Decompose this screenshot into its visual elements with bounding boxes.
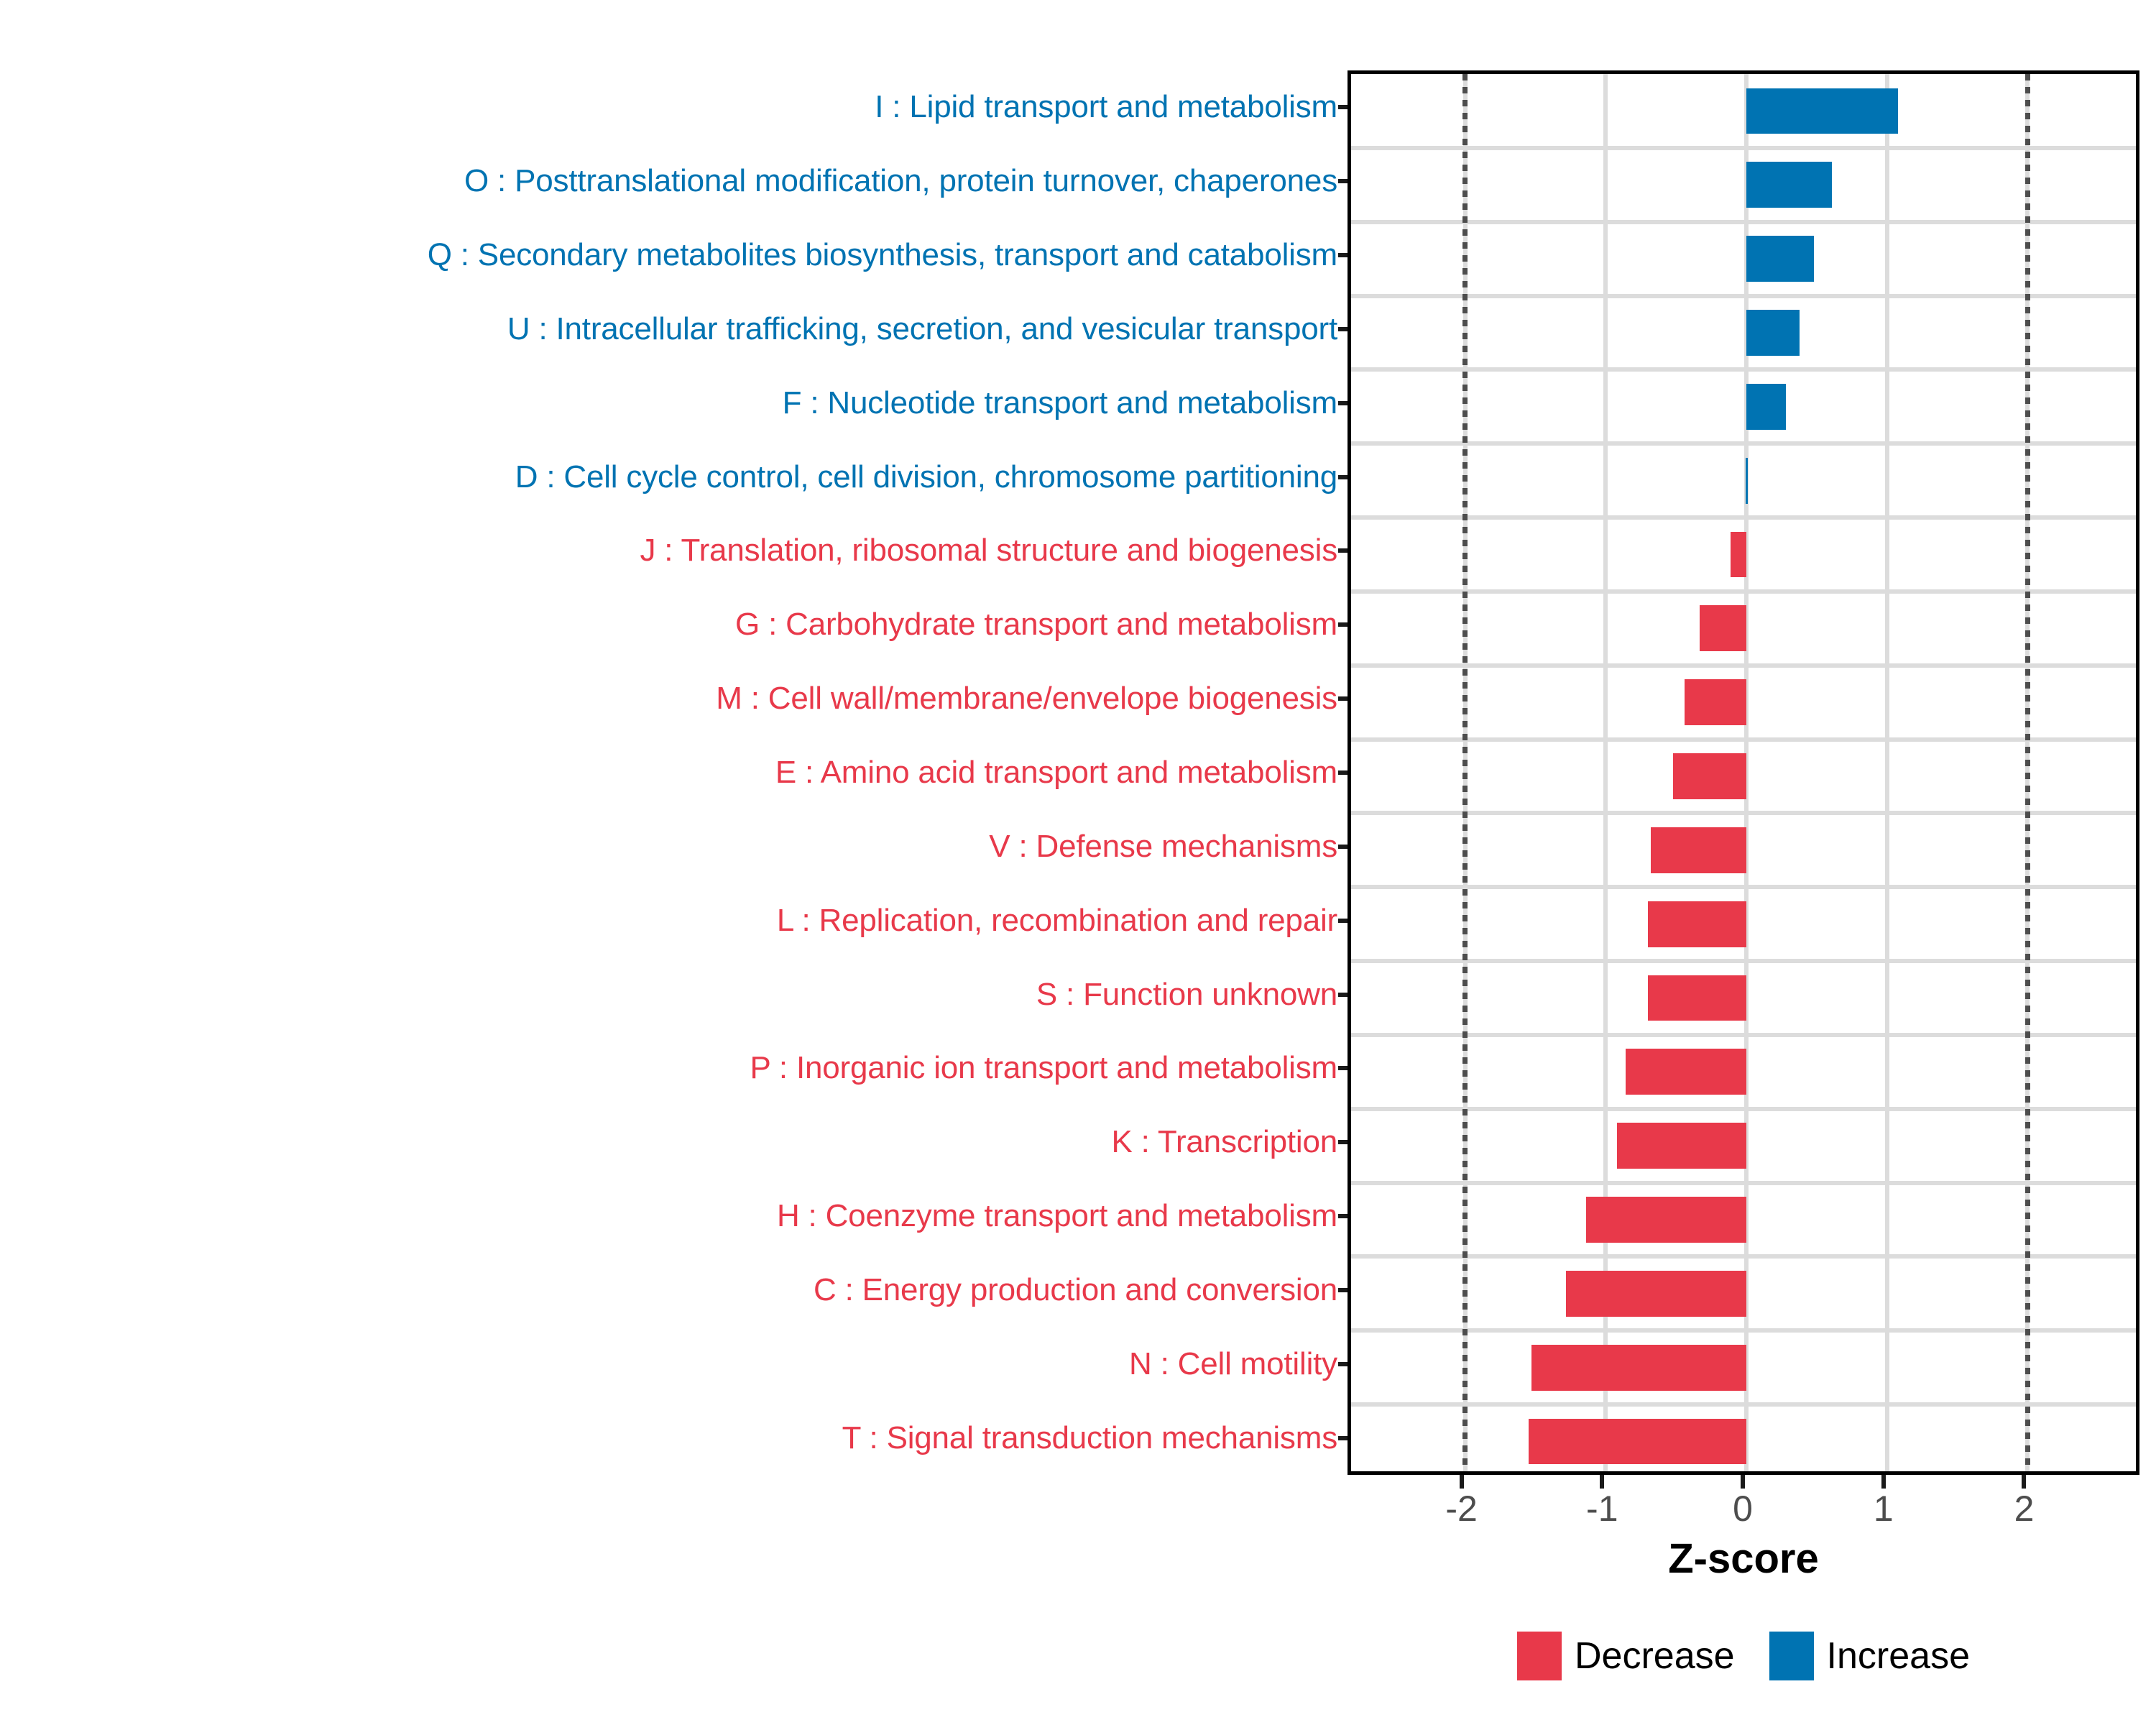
category-label: T : Signal transduction mechanisms — [842, 1422, 1337, 1454]
category-label: Q : Secondary metabolites biosynthesis, … — [428, 239, 1337, 271]
category-label: U : Intracellular trafficking, secretion… — [507, 313, 1337, 345]
y-axis-tick — [1338, 1436, 1347, 1440]
bar — [1531, 1345, 1746, 1391]
category-label-row: I : Lipid transport and metabolism — [0, 70, 1347, 144]
bar — [1685, 679, 1746, 725]
category-label-row: H : Coenzyme transport and metabolism — [0, 1179, 1347, 1253]
category-label-row: O : Posttranslational modification, prot… — [0, 144, 1347, 218]
bar — [1673, 753, 1746, 799]
horizontal-gridline — [1351, 959, 2136, 963]
category-label: V : Defense mechanisms — [989, 831, 1337, 862]
legend-color-swatch — [1769, 1632, 1814, 1680]
x-axis-tick-mark — [1600, 1475, 1604, 1489]
category-label: C : Energy production and conversion — [814, 1274, 1337, 1306]
y-axis-tick — [1338, 1288, 1347, 1292]
horizontal-gridline — [1351, 515, 2136, 520]
category-label: H : Coenzyme transport and metabolism — [777, 1200, 1337, 1232]
y-axis-tick — [1338, 919, 1347, 923]
category-label-row: T : Signal transduction mechanisms — [0, 1401, 1347, 1475]
legend: DecreaseIncrease — [1347, 1632, 2139, 1680]
reference-dashed-line — [1462, 74, 1468, 1471]
horizontal-gridline — [1351, 1181, 2136, 1185]
category-label: O : Posttranslational modification, prot… — [464, 165, 1337, 197]
horizontal-gridline — [1351, 146, 2136, 150]
y-axis-tick — [1338, 105, 1347, 109]
bar — [1746, 458, 1748, 504]
y-axis-tick — [1338, 622, 1347, 627]
legend-item[interactable]: Decrease — [1517, 1632, 1735, 1680]
category-label: F : Nucleotide transport and metabolism — [783, 387, 1337, 419]
horizontal-gridline — [1351, 737, 2136, 742]
category-label: M : Cell wall/membrane/envelope biogenes… — [716, 683, 1337, 714]
x-axis-tick-label: 0 — [1733, 1491, 1753, 1527]
category-label-row: C : Energy production and conversion — [0, 1253, 1347, 1328]
plot-area — [1351, 74, 2136, 1471]
category-label-row: N : Cell motility — [0, 1327, 1347, 1401]
horizontal-gridline — [1351, 1402, 2136, 1407]
category-label: L : Replication, recombination and repai… — [777, 905, 1337, 937]
bar — [1746, 162, 1832, 208]
horizontal-gridline — [1351, 220, 2136, 224]
bar — [1700, 605, 1746, 651]
category-label-row: F : Nucleotide transport and metabolism — [0, 366, 1347, 440]
x-axis-tick-label: -1 — [1586, 1491, 1618, 1527]
horizontal-gridline — [1351, 441, 2136, 446]
y-axis-tick — [1338, 475, 1347, 479]
horizontal-gridline — [1351, 1328, 2136, 1333]
category-label: S : Function unknown — [1036, 979, 1337, 1011]
category-label: G : Carbohydrate transport and metabolis… — [735, 609, 1337, 640]
bar — [1746, 88, 1898, 134]
y-axis-tick — [1338, 845, 1347, 849]
bar — [1626, 1049, 1746, 1095]
y-axis-tick — [1338, 993, 1347, 997]
legend-label: Increase — [1827, 1637, 1970, 1675]
y-axis-tick — [1338, 1214, 1347, 1218]
plot-panel — [1347, 70, 2139, 1475]
vertical-gridline — [1885, 74, 1889, 1471]
y-axis-tick — [1338, 179, 1347, 183]
y-axis-tick — [1338, 1362, 1347, 1366]
horizontal-gridline — [1351, 885, 2136, 889]
cog-zscore-barchart: I : Lipid transport and metabolismO : Po… — [0, 0, 2156, 1725]
bar — [1529, 1419, 1746, 1465]
y-axis-tick — [1338, 401, 1347, 405]
category-label-row: U : Intracellular trafficking, secretion… — [0, 293, 1347, 367]
category-label: D : Cell cycle control, cell division, c… — [515, 461, 1337, 493]
category-label-row: Q : Secondary metabolites biosynthesis, … — [0, 218, 1347, 293]
category-label: P : Inorganic ion transport and metaboli… — [750, 1052, 1337, 1084]
category-label-row: P : Inorganic ion transport and metaboli… — [0, 1031, 1347, 1105]
category-label-row: E : Amino acid transport and metabolism — [0, 736, 1347, 810]
category-label-row: D : Cell cycle control, cell division, c… — [0, 440, 1347, 514]
legend-item[interactable]: Increase — [1769, 1632, 1970, 1680]
y-axis-tick — [1338, 253, 1347, 257]
category-label: J : Translation, ribosomal structure and… — [640, 535, 1337, 566]
bar — [1648, 975, 1746, 1021]
x-axis-tick-label: -2 — [1445, 1491, 1477, 1527]
bar — [1746, 236, 1814, 282]
x-axis-tick-mark — [2022, 1475, 2026, 1489]
legend-color-swatch — [1517, 1632, 1562, 1680]
x-axis-tick-mark — [1460, 1475, 1464, 1489]
x-axis-tick-mark — [1881, 1475, 1886, 1489]
category-label-row: V : Defense mechanisms — [0, 809, 1347, 883]
horizontal-gridline — [1351, 663, 2136, 668]
horizontal-gridline — [1351, 1254, 2136, 1259]
category-label: I : Lipid transport and metabolism — [875, 91, 1337, 123]
bar — [1648, 901, 1746, 947]
x-axis-tick-mark — [1741, 1475, 1745, 1489]
category-label: N : Cell motility — [1129, 1348, 1337, 1380]
horizontal-gridline — [1351, 811, 2136, 815]
bar — [1651, 827, 1746, 873]
horizontal-gridline — [1351, 1107, 2136, 1111]
y-axis-tick — [1338, 1066, 1347, 1070]
category-label-row: S : Function unknown — [0, 957, 1347, 1031]
y-axis-tick — [1338, 548, 1347, 553]
horizontal-gridline — [1351, 1033, 2136, 1037]
horizontal-gridline — [1351, 367, 2136, 372]
vertical-gridline — [1603, 74, 1608, 1471]
reference-dashed-line — [2025, 74, 2030, 1471]
category-label-column: I : Lipid transport and metabolismO : Po… — [0, 70, 1347, 1475]
category-label-row: K : Transcription — [0, 1105, 1347, 1179]
bar — [1586, 1197, 1746, 1243]
category-label-row: M : Cell wall/membrane/envelope biogenes… — [0, 662, 1347, 736]
horizontal-gridline — [1351, 589, 2136, 594]
bar — [1617, 1123, 1746, 1169]
category-label-row: J : Translation, ribosomal structure and… — [0, 514, 1347, 588]
bar — [1731, 532, 1746, 578]
bar — [1746, 384, 1786, 430]
x-axis-tick-label: 1 — [1874, 1491, 1894, 1527]
x-axis-tick-label: 2 — [2014, 1491, 2035, 1527]
y-axis-tick — [1338, 770, 1347, 775]
category-label: K : Transcription — [1111, 1126, 1337, 1158]
category-label-row: G : Carbohydrate transport and metabolis… — [0, 588, 1347, 662]
x-axis-title: Z-score — [1347, 1538, 2139, 1580]
legend-label: Decrease — [1575, 1637, 1735, 1675]
horizontal-gridline — [1351, 294, 2136, 298]
bar — [1566, 1271, 1746, 1317]
bar — [1746, 310, 1800, 356]
category-label-row: L : Replication, recombination and repai… — [0, 883, 1347, 957]
y-axis-tick — [1338, 696, 1347, 701]
y-axis-tick — [1338, 1140, 1347, 1144]
category-label: E : Amino acid transport and metabolism — [775, 757, 1337, 788]
y-axis-tick — [1338, 327, 1347, 331]
